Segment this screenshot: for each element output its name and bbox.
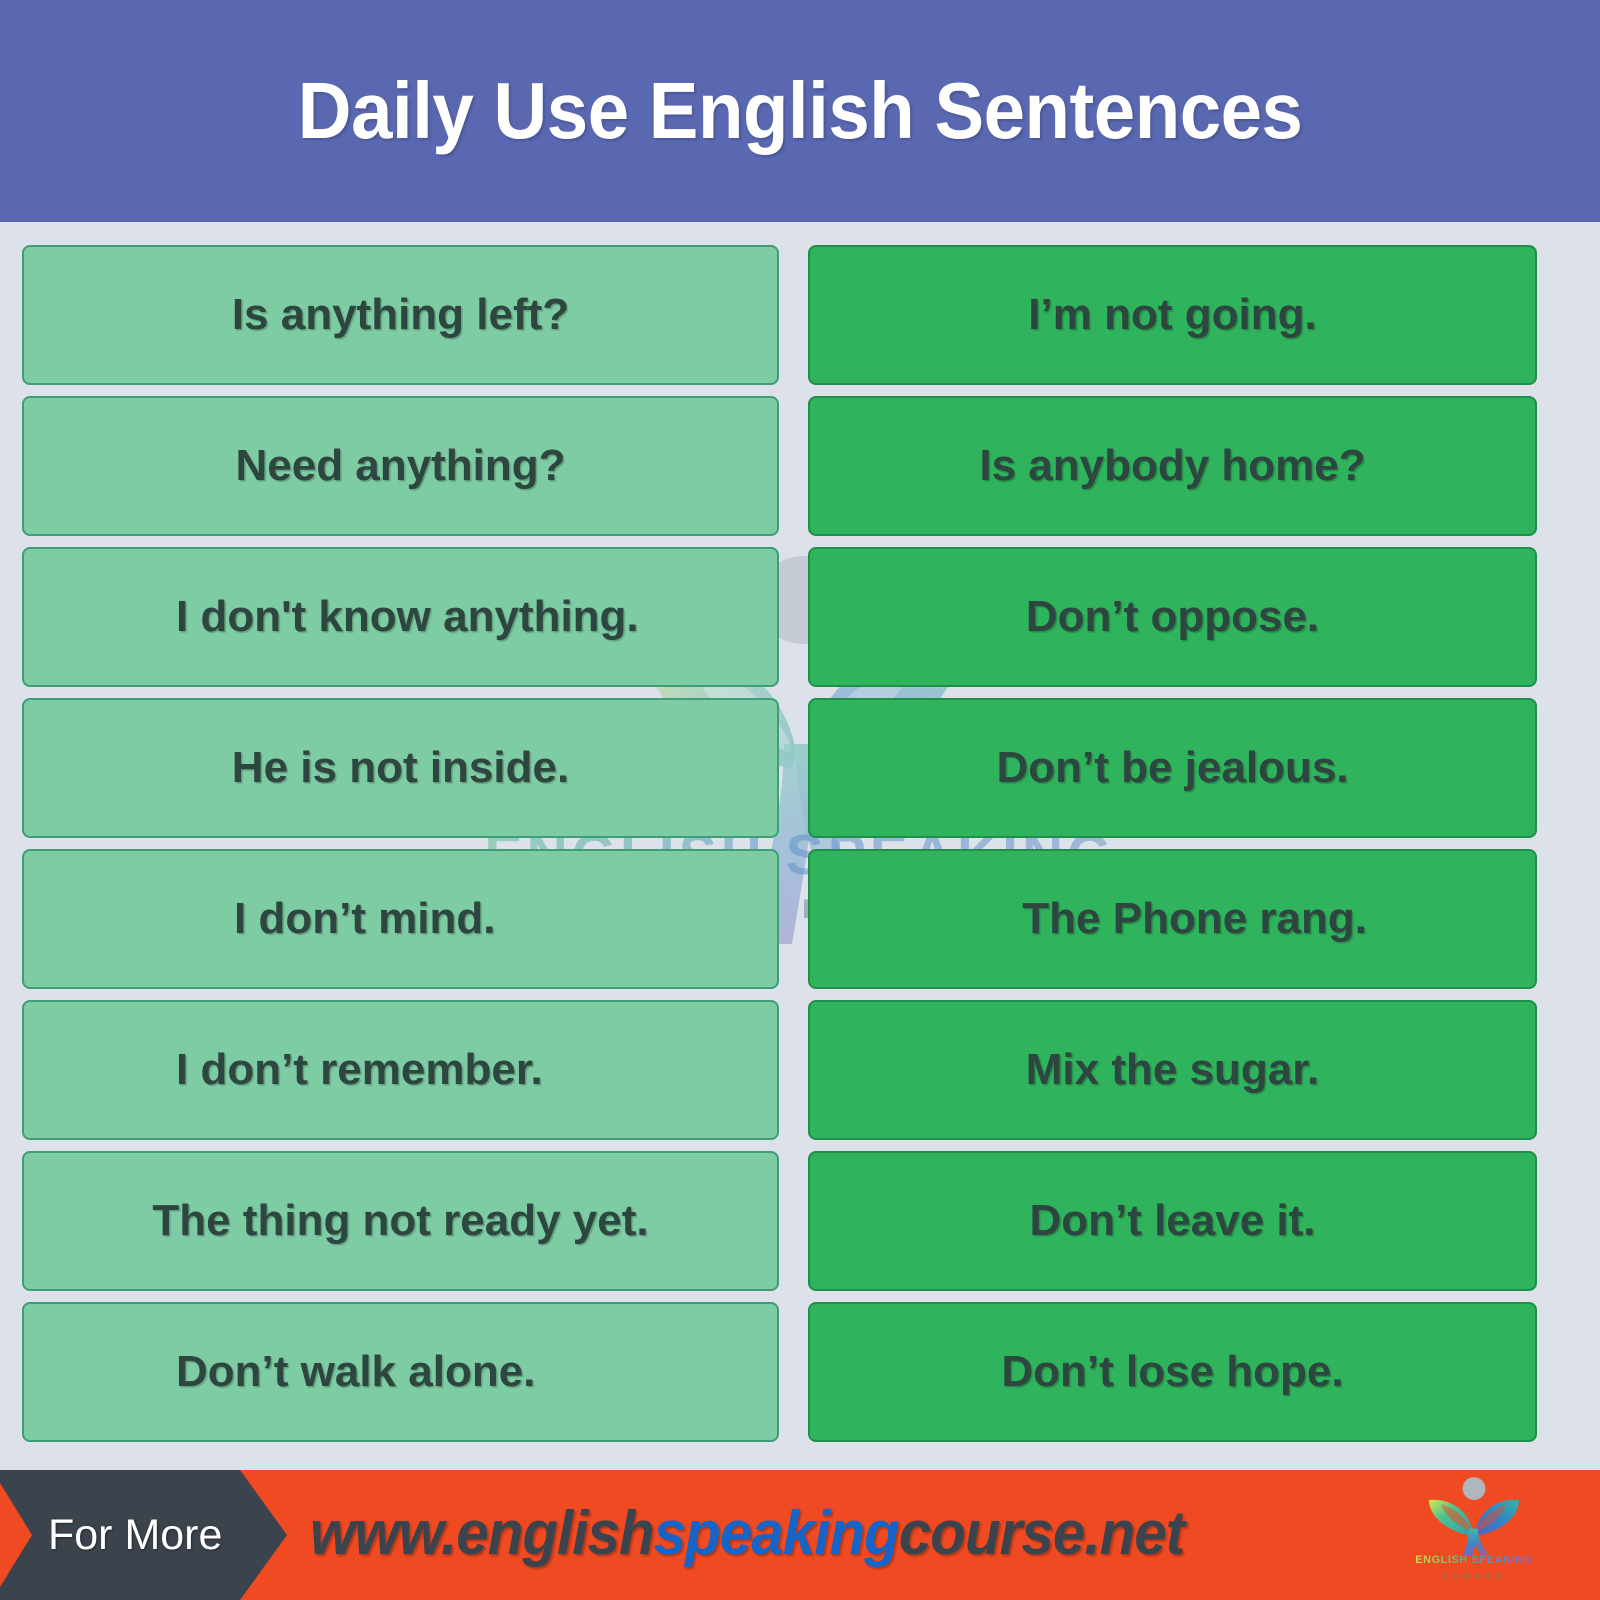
sentence-row: Is anything left? I’m not going. <box>0 245 1600 385</box>
sentence-card-left[interactable]: He is not inside. <box>22 698 779 838</box>
sentence-card-right[interactable]: Don’t oppose. <box>808 547 1537 687</box>
sentence-card-right[interactable]: The Phone rang. <box>808 849 1537 989</box>
sentence-card-left[interactable]: I don't know anything. <box>22 547 779 687</box>
sentence-card-right[interactable]: Don’t lose hope. <box>808 1302 1537 1442</box>
sentence-card-right[interactable]: I’m not going. <box>808 245 1537 385</box>
url-part-3: course.net <box>899 1499 1184 1568</box>
url-part-1: www.english <box>310 1499 654 1568</box>
page-title: Daily Use English Sentences <box>298 71 1303 151</box>
sentence-grid: Is anything left? I’m not going. Need an… <box>0 222 1600 1470</box>
page-footer: For More www.englishspeakingcourse.net <box>0 1470 1600 1600</box>
sentence-card-left[interactable]: I don’t remember. <box>22 1000 779 1140</box>
footer-logo-text-2: COURSE <box>1414 1572 1534 1581</box>
footer-logo-text-1: ENGLISH SPEAKING <box>1414 1554 1534 1566</box>
sentence-card-left[interactable]: I don’t mind. <box>22 849 779 989</box>
sentence-row: Need anything? Is anybody home? <box>0 396 1600 536</box>
sentence-card-right[interactable]: Don’t be jealous. <box>808 698 1537 838</box>
sentence-row: I don’t remember. Mix the sugar. <box>0 1000 1600 1140</box>
url-part-2: speaking <box>654 1499 899 1568</box>
sentence-row: I don't know anything. Don’t oppose. <box>0 547 1600 687</box>
website-url[interactable]: www.englishspeakingcourse.net <box>310 1498 1184 1569</box>
for-more-banner: For More <box>0 1470 287 1600</box>
sentence-card-right[interactable]: Mix the sugar. <box>808 1000 1537 1140</box>
sentence-card-left[interactable]: Don’t walk alone. <box>22 1302 779 1442</box>
sentence-card-left[interactable]: Is anything left? <box>22 245 779 385</box>
sentence-row: He is not inside. Don’t be jealous. <box>0 698 1600 838</box>
sentence-card-left[interactable]: The thing not ready yet. <box>22 1151 779 1291</box>
page-header: Daily Use English Sentences <box>0 0 1600 222</box>
footer-brand-logo: ENGLISH SPEAKING COURSE <box>1414 1476 1534 1596</box>
sentence-card-right[interactable]: Is anybody home? <box>808 396 1537 536</box>
sentence-card-right[interactable]: Don’t leave it. <box>808 1151 1537 1291</box>
sentence-row: The thing not ready yet. Don’t leave it. <box>0 1151 1600 1291</box>
sentence-row: Don’t walk alone. Don’t lose hope. <box>0 1302 1600 1442</box>
for-more-label: For More <box>48 1511 222 1560</box>
footer-leaf-person-icon <box>1414 1476 1534 1556</box>
sentence-row: I don’t mind. The Phone rang. <box>0 849 1600 989</box>
sentence-card-left[interactable]: Need anything? <box>22 396 779 536</box>
